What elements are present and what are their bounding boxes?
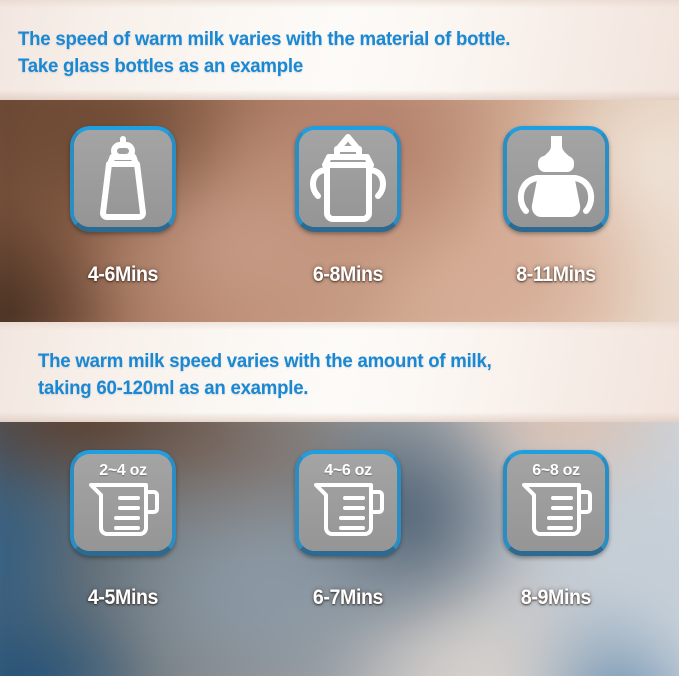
tile-surface: 6~8 oz bbox=[507, 454, 605, 551]
tile-surface bbox=[507, 130, 605, 227]
oz-label: 6~8 oz bbox=[507, 462, 605, 480]
banner-line-1: The speed of warm milk varies with the m… bbox=[18, 26, 510, 53]
banner-text-block: The warm milk speed varies with the amou… bbox=[38, 348, 513, 402]
card-measuring-cup-2-4oz[interactable]: 2~4 oz bbox=[70, 450, 176, 556]
oz-label: 4~6 oz bbox=[299, 462, 397, 480]
card-sippy-handle-bottle[interactable] bbox=[503, 126, 609, 232]
banner-line-1: The warm milk speed varies with the amou… bbox=[38, 348, 492, 375]
card-wide-neck-handle-bottle[interactable] bbox=[295, 126, 401, 232]
narrow-neck-bottle-icon bbox=[74, 130, 172, 227]
material-banner: The speed of warm milk varies with the m… bbox=[0, 0, 679, 100]
sippy-handle-bottle-icon bbox=[507, 130, 605, 227]
tile-surface bbox=[74, 130, 172, 227]
time-label: 8-9Mins bbox=[463, 586, 649, 610]
tile-surface bbox=[299, 130, 397, 227]
wide-neck-handle-bottle-icon bbox=[299, 130, 397, 227]
time-label: 4-5Mins bbox=[30, 586, 216, 610]
card-measuring-cup-6-8oz[interactable]: 6~8 oz bbox=[503, 450, 609, 556]
tile-surface: 2~4 oz bbox=[74, 454, 172, 551]
bottle-warming-time-infographic: The speed of warm milk varies with the m… bbox=[0, 0, 679, 679]
time-label: 4-6Mins bbox=[30, 263, 216, 287]
oz-label: 2~4 oz bbox=[74, 462, 172, 480]
card-measuring-cup-4-6oz[interactable]: 4~6 oz bbox=[295, 450, 401, 556]
time-label: 8-11Mins bbox=[463, 263, 649, 287]
tile-surface: 4~6 oz bbox=[299, 454, 397, 551]
card-narrow-neck-bottle[interactable] bbox=[70, 126, 176, 232]
banner-text-block: The speed of warm milk varies with the m… bbox=[18, 26, 533, 80]
banner-line-2: taking 60-120ml as an example. bbox=[38, 375, 492, 402]
time-label: 6-8Mins bbox=[255, 263, 441, 287]
banner-line-2: Take glass bottles as an example bbox=[18, 53, 510, 80]
time-label: 6-7Mins bbox=[255, 586, 441, 610]
amount-banner: The warm milk speed varies with the amou… bbox=[0, 322, 679, 422]
